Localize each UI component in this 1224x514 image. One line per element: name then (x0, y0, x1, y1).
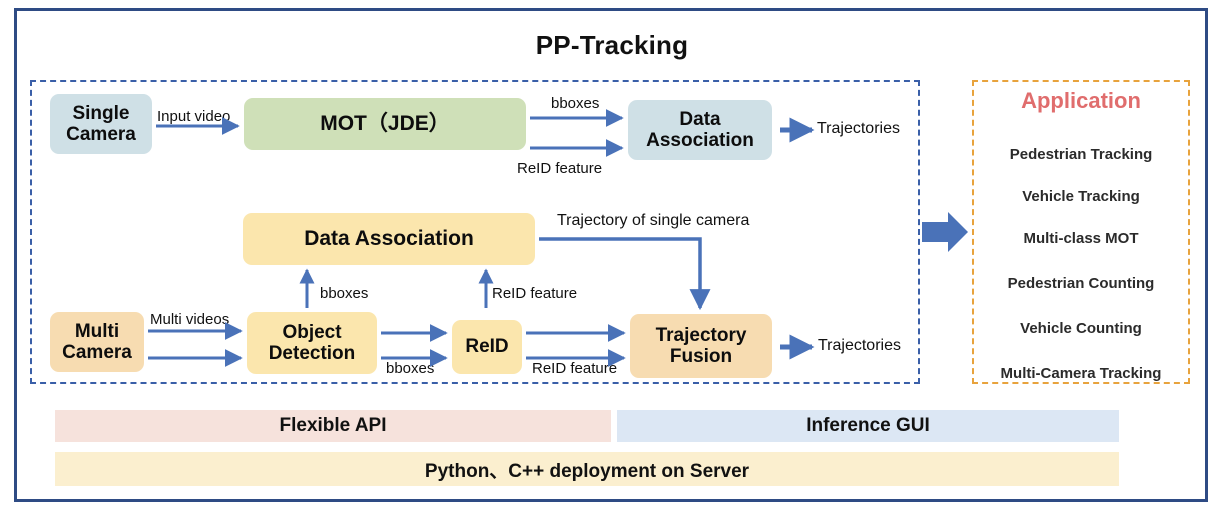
reid-label: ReID (465, 336, 508, 357)
bar-inference-gui[interactable]: Inference GUI (617, 410, 1119, 442)
label-bboxes-right: bboxes (386, 360, 434, 377)
trajectory-fusion-line2: Fusion (670, 346, 732, 367)
label-trajectories-single: Trajectories (817, 120, 900, 138)
multi-camera-line1: Multi (75, 321, 119, 342)
bar-deployment[interactable]: Python、C++ deployment on Server (55, 452, 1119, 486)
application-heading: Application (972, 88, 1190, 114)
application-item-0[interactable]: Pedestrian Tracking (972, 146, 1190, 163)
object-detection-line2: Detection (269, 343, 356, 364)
application-item-2[interactable]: Multi-class MOT (972, 230, 1190, 247)
single-camera-line2: Camera (66, 124, 136, 145)
label-input-video: Input video (157, 108, 230, 125)
label-bboxes-up: bboxes (320, 285, 368, 302)
bar-flexible-api[interactable]: Flexible API (55, 410, 611, 442)
label-bboxes-single: bboxes (551, 95, 599, 112)
node-data-association-single[interactable]: Data Association (628, 100, 772, 160)
object-detection-line1: Object (282, 322, 341, 343)
label-multi-videos: Multi videos (150, 311, 229, 328)
diagram-canvas: PP-Tracking Single Camera Input video MO… (0, 0, 1224, 514)
node-single-camera[interactable]: Single Camera (50, 94, 152, 154)
flexible-api-label: Flexible API (280, 415, 387, 437)
data-association-multi-label: Data Association (304, 227, 474, 251)
inference-gui-label: Inference GUI (806, 415, 930, 437)
data-association-line2: Association (646, 130, 754, 151)
multi-camera-line2: Camera (62, 342, 132, 363)
single-camera-line1: Single (72, 103, 129, 124)
page-title: PP-Tracking (0, 30, 1224, 61)
node-reid[interactable]: ReID (452, 320, 522, 374)
application-item-5[interactable]: Multi-Camera Tracking (972, 365, 1190, 382)
node-data-association-multi[interactable]: Data Association (243, 213, 535, 265)
node-object-detection[interactable]: Object Detection (247, 312, 377, 374)
node-multi-camera[interactable]: Multi Camera (50, 312, 144, 372)
label-reid-feature-up: ReID feature (492, 285, 577, 302)
label-reid-feature-single: ReID feature (517, 160, 602, 177)
application-item-1[interactable]: Vehicle Tracking (972, 188, 1190, 205)
deployment-label: Python、C++ deployment on Server (425, 456, 749, 483)
node-mot-jde[interactable]: MOT（JDE） (244, 98, 526, 150)
mot-jde-label: MOT（JDE） (320, 112, 450, 136)
node-trajectory-fusion[interactable]: Trajectory Fusion (630, 314, 772, 378)
application-item-3[interactable]: Pedestrian Counting (972, 275, 1190, 292)
label-reid-feature-right: ReID feature (532, 360, 617, 377)
label-trajectories-multi: Trajectories (818, 337, 901, 355)
data-association-line1: Data (679, 109, 720, 130)
label-trajectory-of-single-camera: Trajectory of single camera (557, 212, 749, 230)
application-item-4[interactable]: Vehicle Counting (972, 320, 1190, 337)
trajectory-fusion-line1: Trajectory (656, 325, 747, 346)
